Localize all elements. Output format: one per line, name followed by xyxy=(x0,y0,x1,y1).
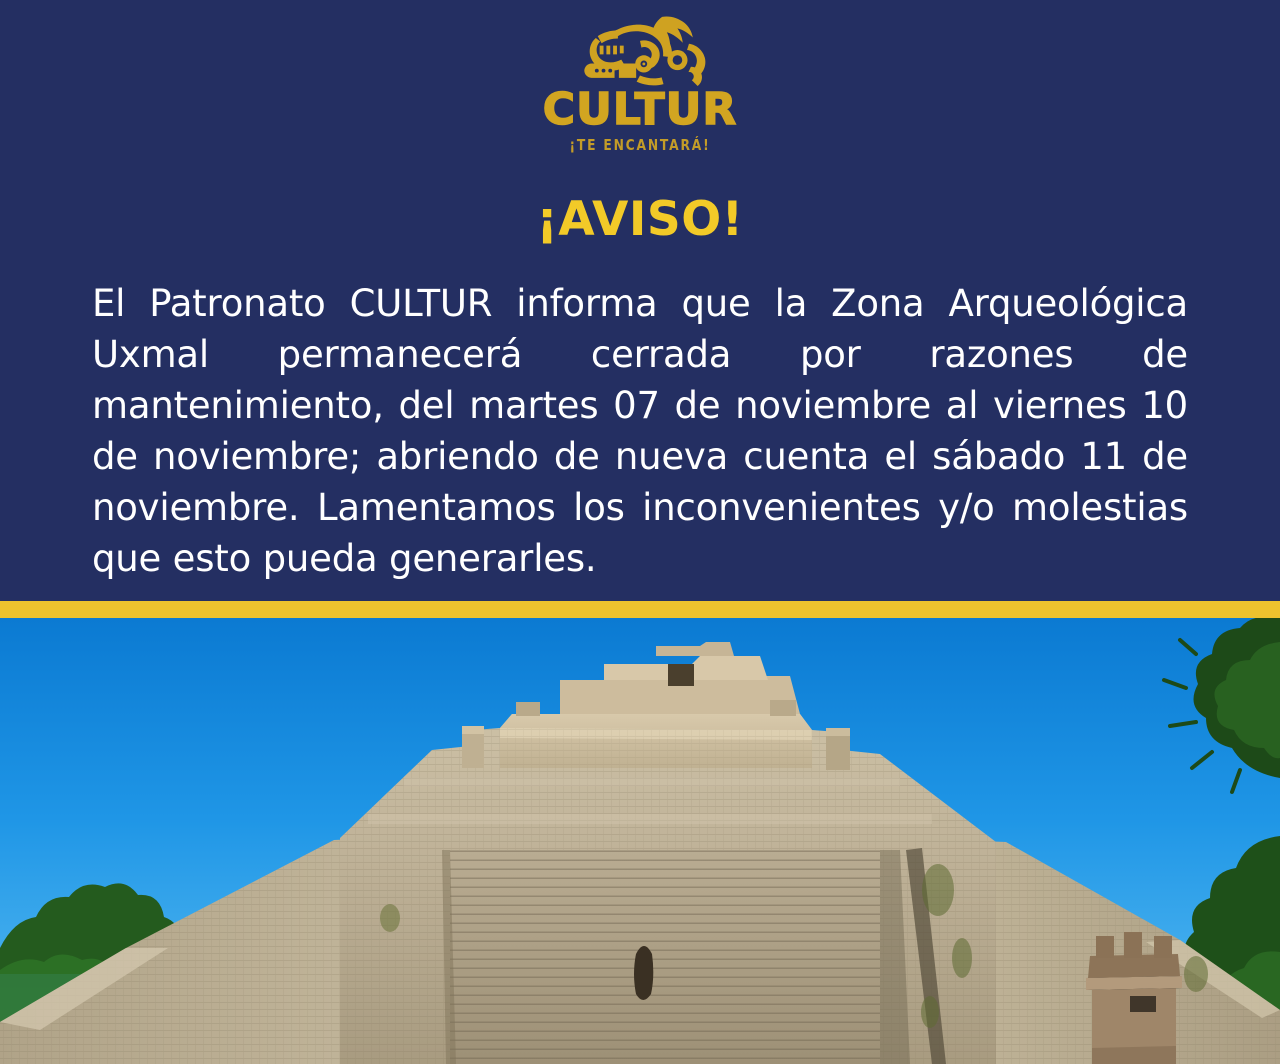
pyramid-niche xyxy=(634,946,653,1000)
notice-panel: CULTUR ¡TE ENCANTARÁ! ¡AVISO! El Patrona… xyxy=(0,0,1280,601)
mayan-serpent-glyph-icon xyxy=(565,14,715,86)
notice-poster: CULTUR ¡TE ENCANTARÁ! ¡AVISO! El Patrona… xyxy=(0,0,1280,1064)
cultur-logo: CULTUR ¡TE ENCANTARÁ! xyxy=(0,14,1280,153)
secondary-mayan-building xyxy=(1086,932,1182,1064)
notice-paragraph: El Patronato CULTUR informa que la Zona … xyxy=(92,278,1188,584)
notice-body: El Patronato CULTUR informa que la Zona … xyxy=(92,278,1188,584)
page-title: ¡AVISO! xyxy=(0,196,1280,243)
gold-divider xyxy=(0,601,1280,618)
uxmal-pyramid-photo xyxy=(0,618,1280,1064)
cultur-wordmark: CULTUR xyxy=(543,88,737,132)
cultur-tagline: ¡TE ENCANTARÁ! xyxy=(569,138,710,153)
